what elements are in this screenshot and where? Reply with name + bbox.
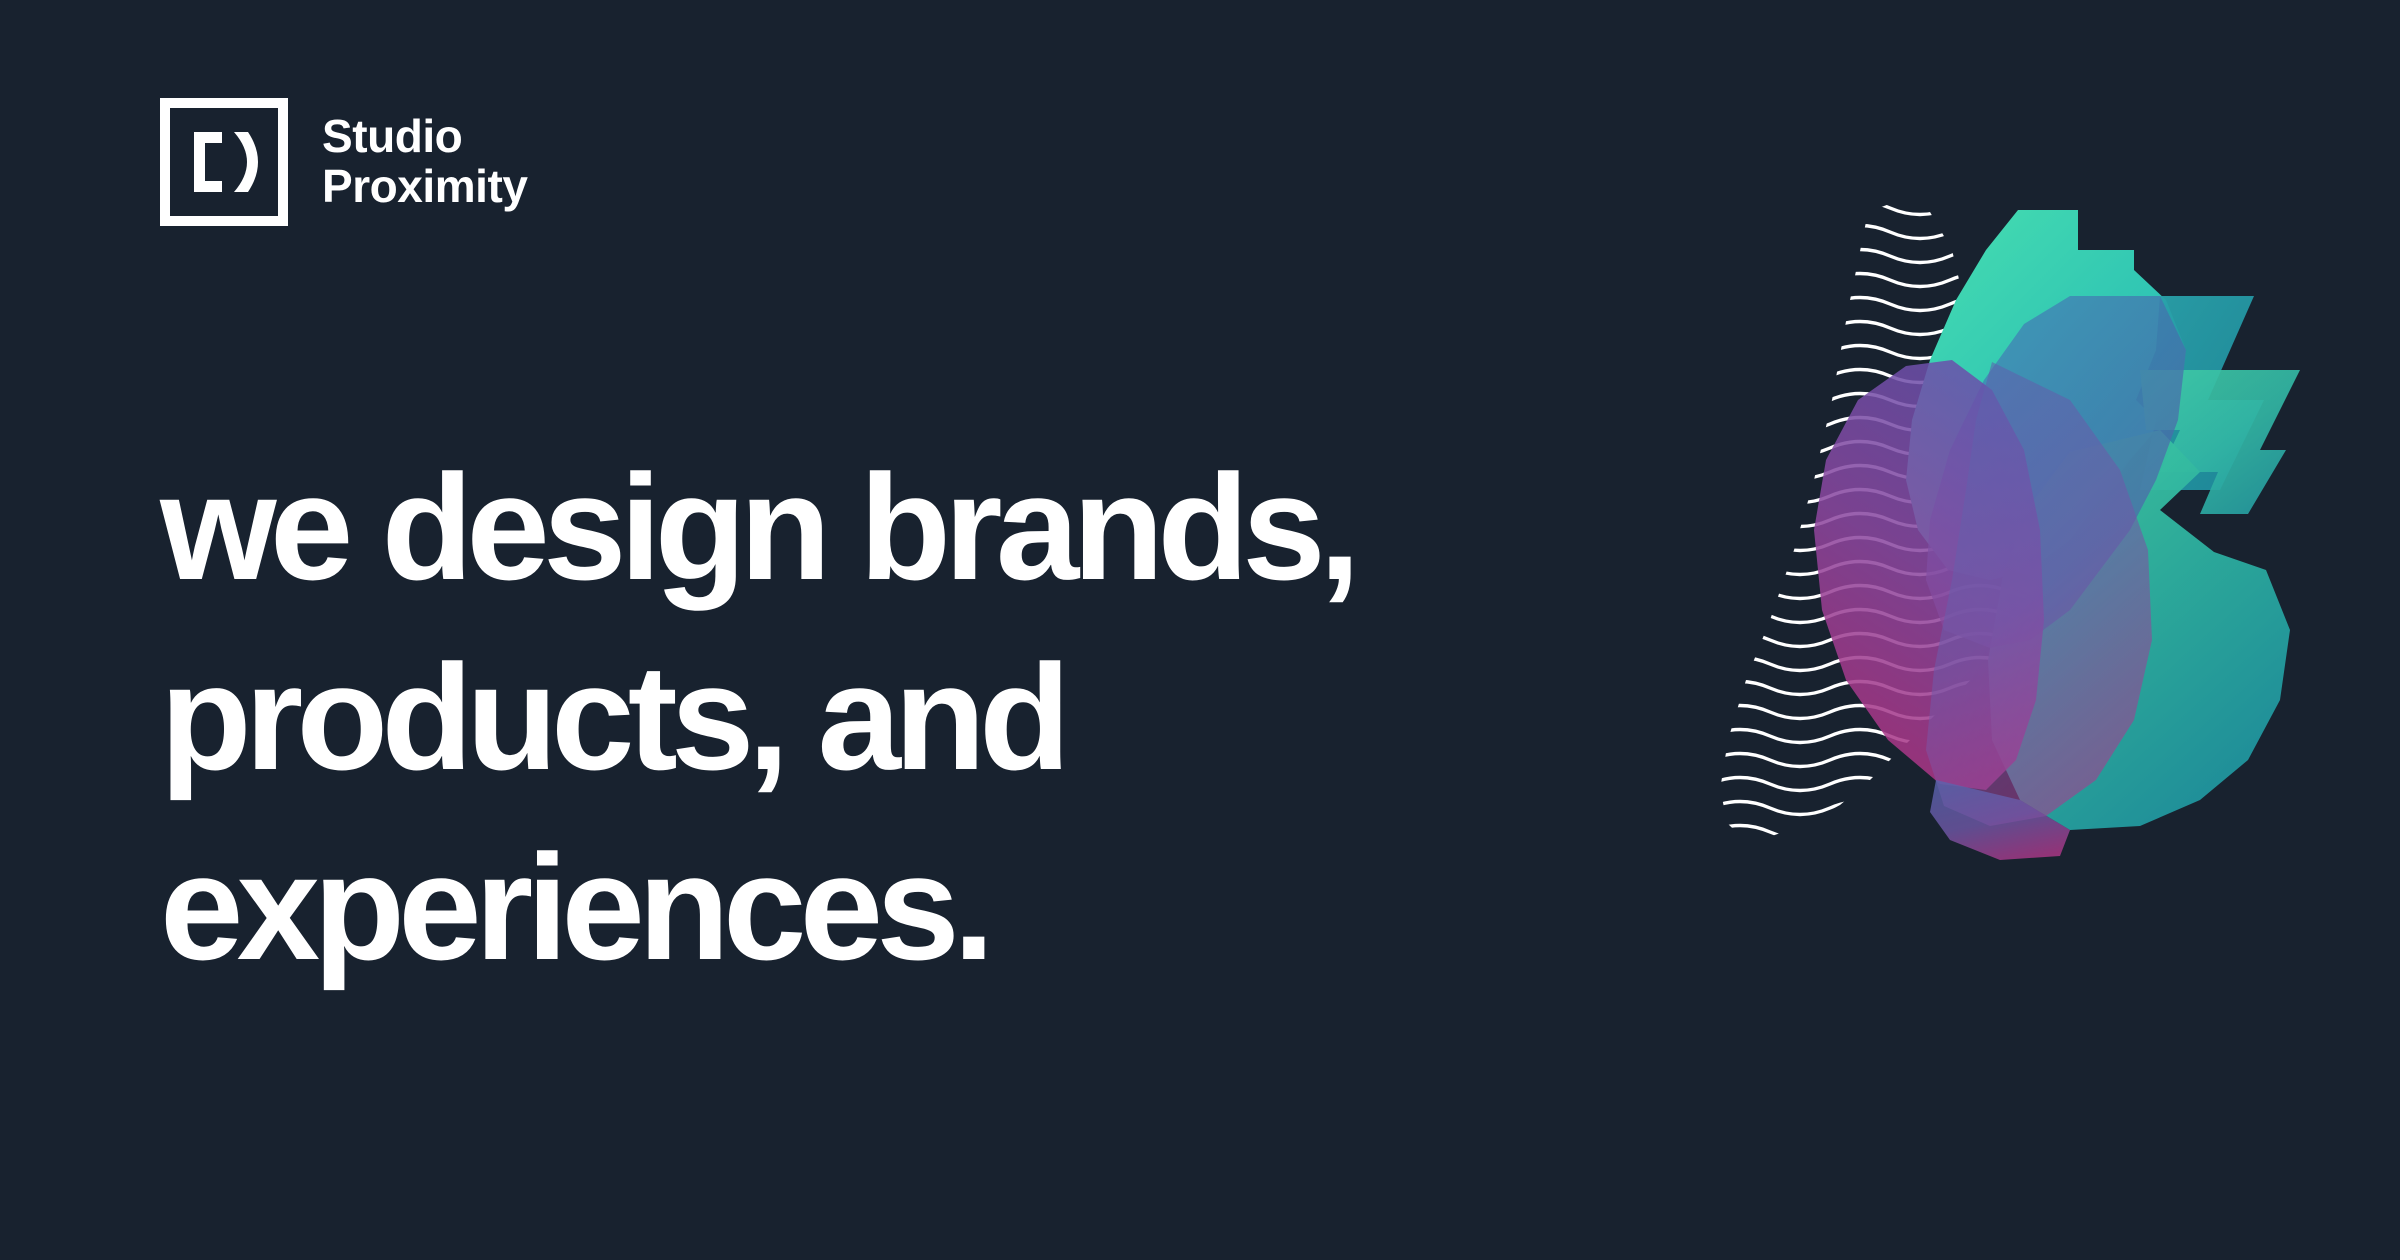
- hero-canvas: Studio Proximity we design brands, produ…: [0, 0, 2400, 1260]
- logo-mark-icon: [160, 98, 288, 226]
- abstract-artwork: [1600, 100, 2400, 1260]
- headline-line-3: experiences.: [160, 812, 1354, 1002]
- brand-lockup[interactable]: Studio Proximity: [160, 98, 528, 226]
- abstract-polygon-graphic: [1600, 100, 2400, 1260]
- brand-name-line-2: Proximity: [322, 162, 528, 212]
- headline-line-1: we design brands,: [160, 432, 1354, 622]
- brand-wordmark: Studio Proximity: [322, 112, 528, 211]
- headline-line-2: products, and: [160, 622, 1354, 812]
- brand-name-line-1: Studio: [322, 112, 528, 162]
- page-headline: we design brands, products, and experien…: [160, 432, 1354, 1002]
